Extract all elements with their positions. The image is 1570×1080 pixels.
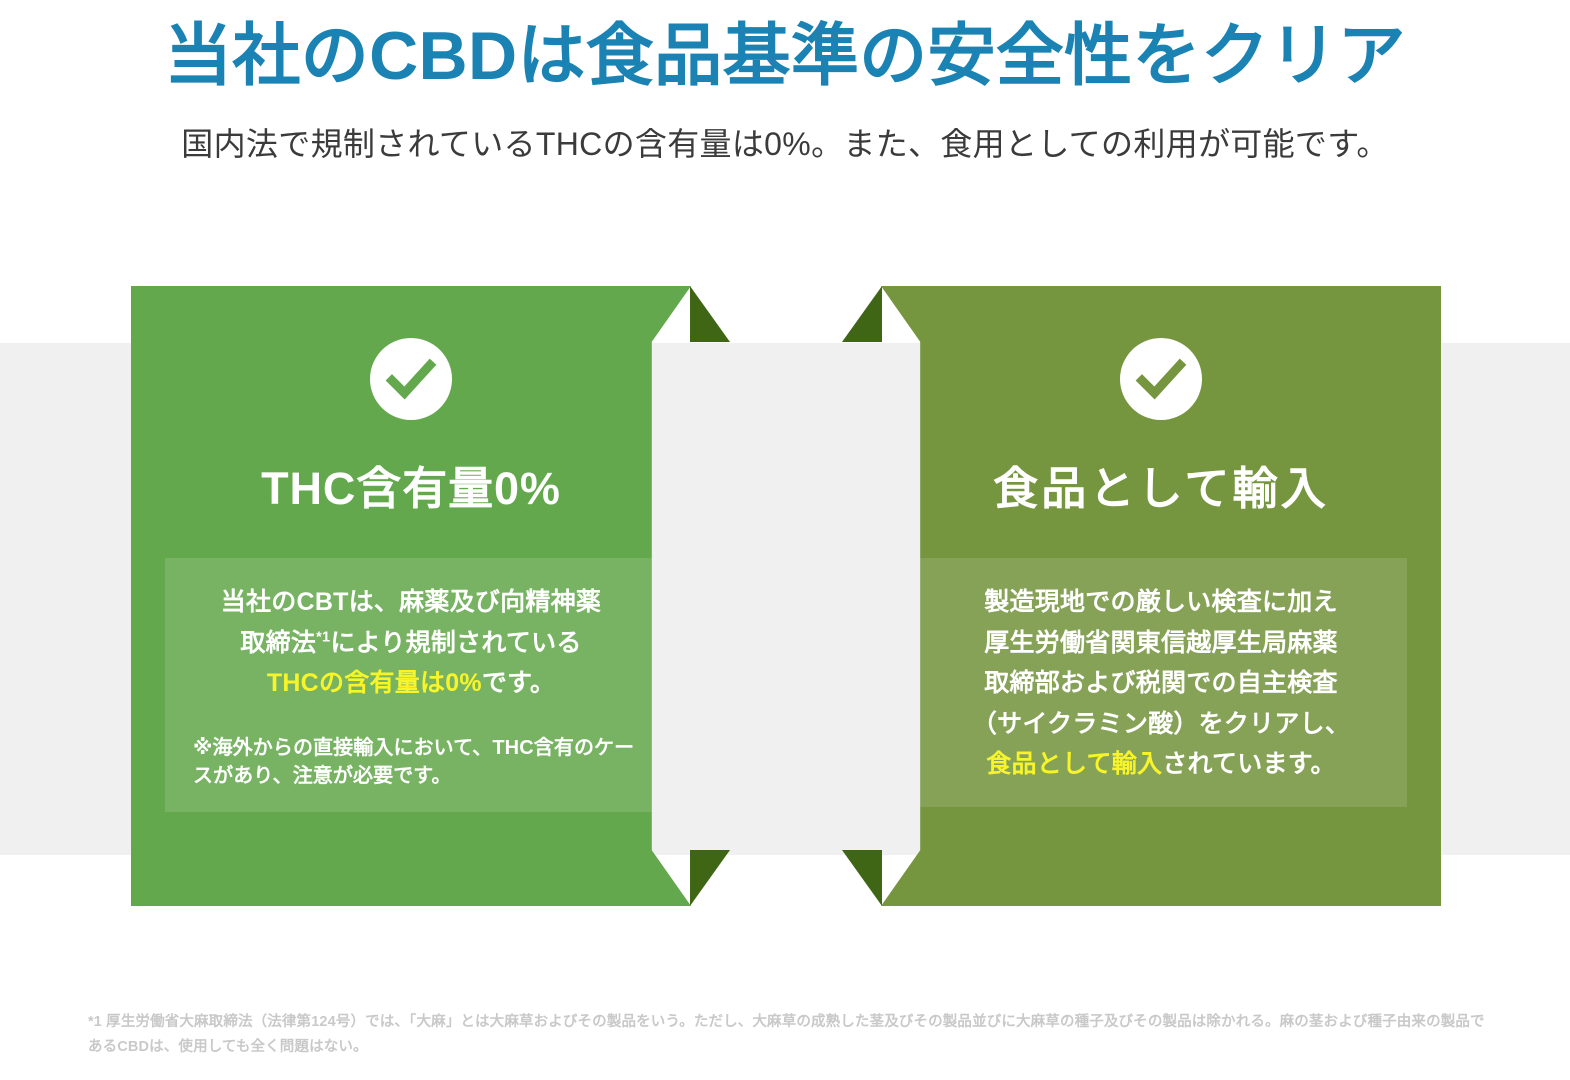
card-note-thc-zero: ※海外からの直接輸入において、THC含有のケースがあり、注意が必要です。 — [179, 704, 643, 791]
card-body-text-thc-zero: 当社のCBTは、麻薬及び向精神薬 取締法*1により規制されている THCの含有量… — [179, 582, 643, 704]
infographic-page: 当社のCBDは食品基準の安全性をクリア 国内法で規制されているTHCの含有量は0… — [0, 0, 1570, 1080]
check-circle-icon — [370, 338, 452, 420]
fold-triangle-left-top — [690, 286, 730, 342]
body-line-2-pre: 取締法 — [240, 629, 316, 657]
cards-row: THC含有量0% 当社のCBTは、麻薬及び向精神薬 取締法*1により規制されてい… — [131, 286, 1441, 906]
header-block: 当社のCBDは食品基準の安全性をクリア 国内法で規制されているTHCの含有量は0… — [0, 0, 1570, 166]
fold-triangle-right-top — [842, 286, 882, 342]
card-body-thc-zero: 当社のCBTは、麻薬及び向精神薬 取締法*1により規制されている THCの含有量… — [165, 558, 657, 812]
body-line-2-post: により規制されている — [330, 629, 581, 657]
body-line-1: 当社のCBTは、麻薬及び向精神薬 — [221, 588, 601, 616]
body-line-2: 厚生労働省関東信越厚生局麻薬 — [984, 629, 1338, 657]
card-body-text-food-import: 製造現地での厳しい検査に加え 厚生労働省関東信越厚生局麻薬 取締部および税関での… — [929, 582, 1393, 785]
check-circle-icon — [1120, 338, 1202, 420]
body-line-3-post: です。 — [482, 669, 555, 697]
body-line-1: 製造現地での厳しい検査に加え — [984, 588, 1338, 616]
card-title-food-import: 食品として輸入 — [915, 420, 1407, 516]
body-line-4: （サイクラミン酸）をクリアし、 — [972, 710, 1350, 738]
body-line-5-post: されています。 — [1162, 750, 1336, 778]
page-subtitle: 国内法で規制されているTHCの含有量は0%。また、食用としての利用が可能です。 — [0, 94, 1570, 166]
card-food-import: 食品として輸入 製造現地での厳しい検査に加え 厚生労働省関東信越厚生局麻薬 取締… — [881, 286, 1441, 906]
fold-triangle-right-bottom — [842, 850, 882, 906]
card-thc-zero: THC含有量0% 当社のCBTは、麻薬及び向精神薬 取締法*1により規制されてい… — [131, 286, 691, 906]
body-highlight-food: 食品として輸入 — [986, 750, 1162, 778]
body-highlight-thc: THCの含有量は0% — [267, 669, 482, 697]
footnote-marker: *1 — [316, 629, 330, 645]
fold-triangle-left-bottom — [690, 850, 730, 906]
card-body-food-import: 製造現地での厳しい検査に加え 厚生労働省関東信越厚生局麻薬 取締部および税関での… — [915, 558, 1407, 807]
card-title-thc-zero: THC含有量0% — [165, 420, 657, 516]
footnote-text: *1 厚生労働省大麻取締法（法律第124号）では、「大麻」とは大麻草およびその製… — [88, 1010, 1488, 1061]
body-line-3: 取締部および税関での自主検査 — [984, 669, 1338, 697]
page-title: 当社のCBDは食品基準の安全性をクリア — [0, 0, 1570, 94]
